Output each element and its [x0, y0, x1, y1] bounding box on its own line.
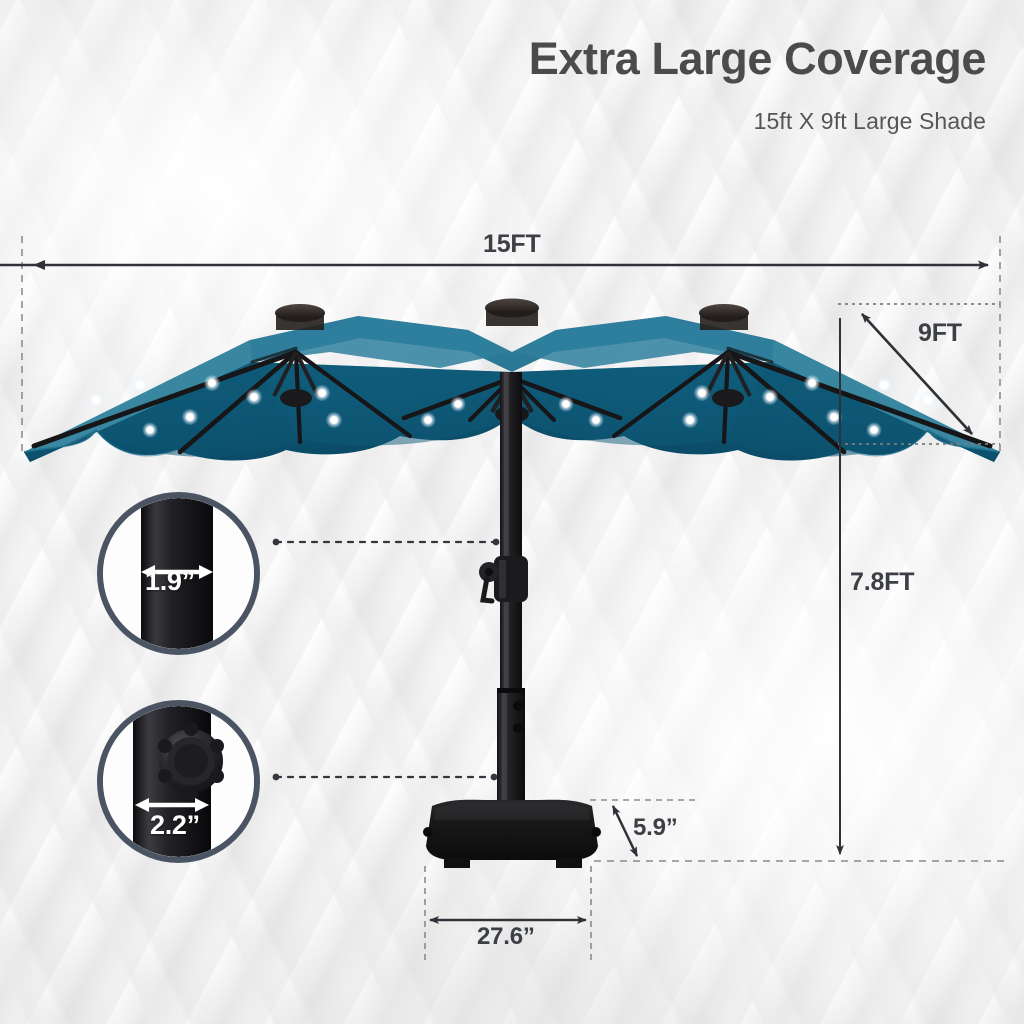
guide-276in	[425, 866, 591, 960]
leader-line-crank-knob	[273, 774, 498, 781]
dimension-line-15ft	[0, 260, 988, 270]
guide-15ft	[22, 236, 1000, 452]
dimension-annotations	[0, 0, 1024, 1024]
leader-line-pole-diameter	[273, 539, 500, 546]
dimension-line-59in	[613, 806, 637, 856]
guide-9ft	[838, 304, 1000, 444]
dimension-line-9ft	[862, 314, 972, 434]
infographic-canvas: 1.9”	[0, 0, 1024, 1024]
